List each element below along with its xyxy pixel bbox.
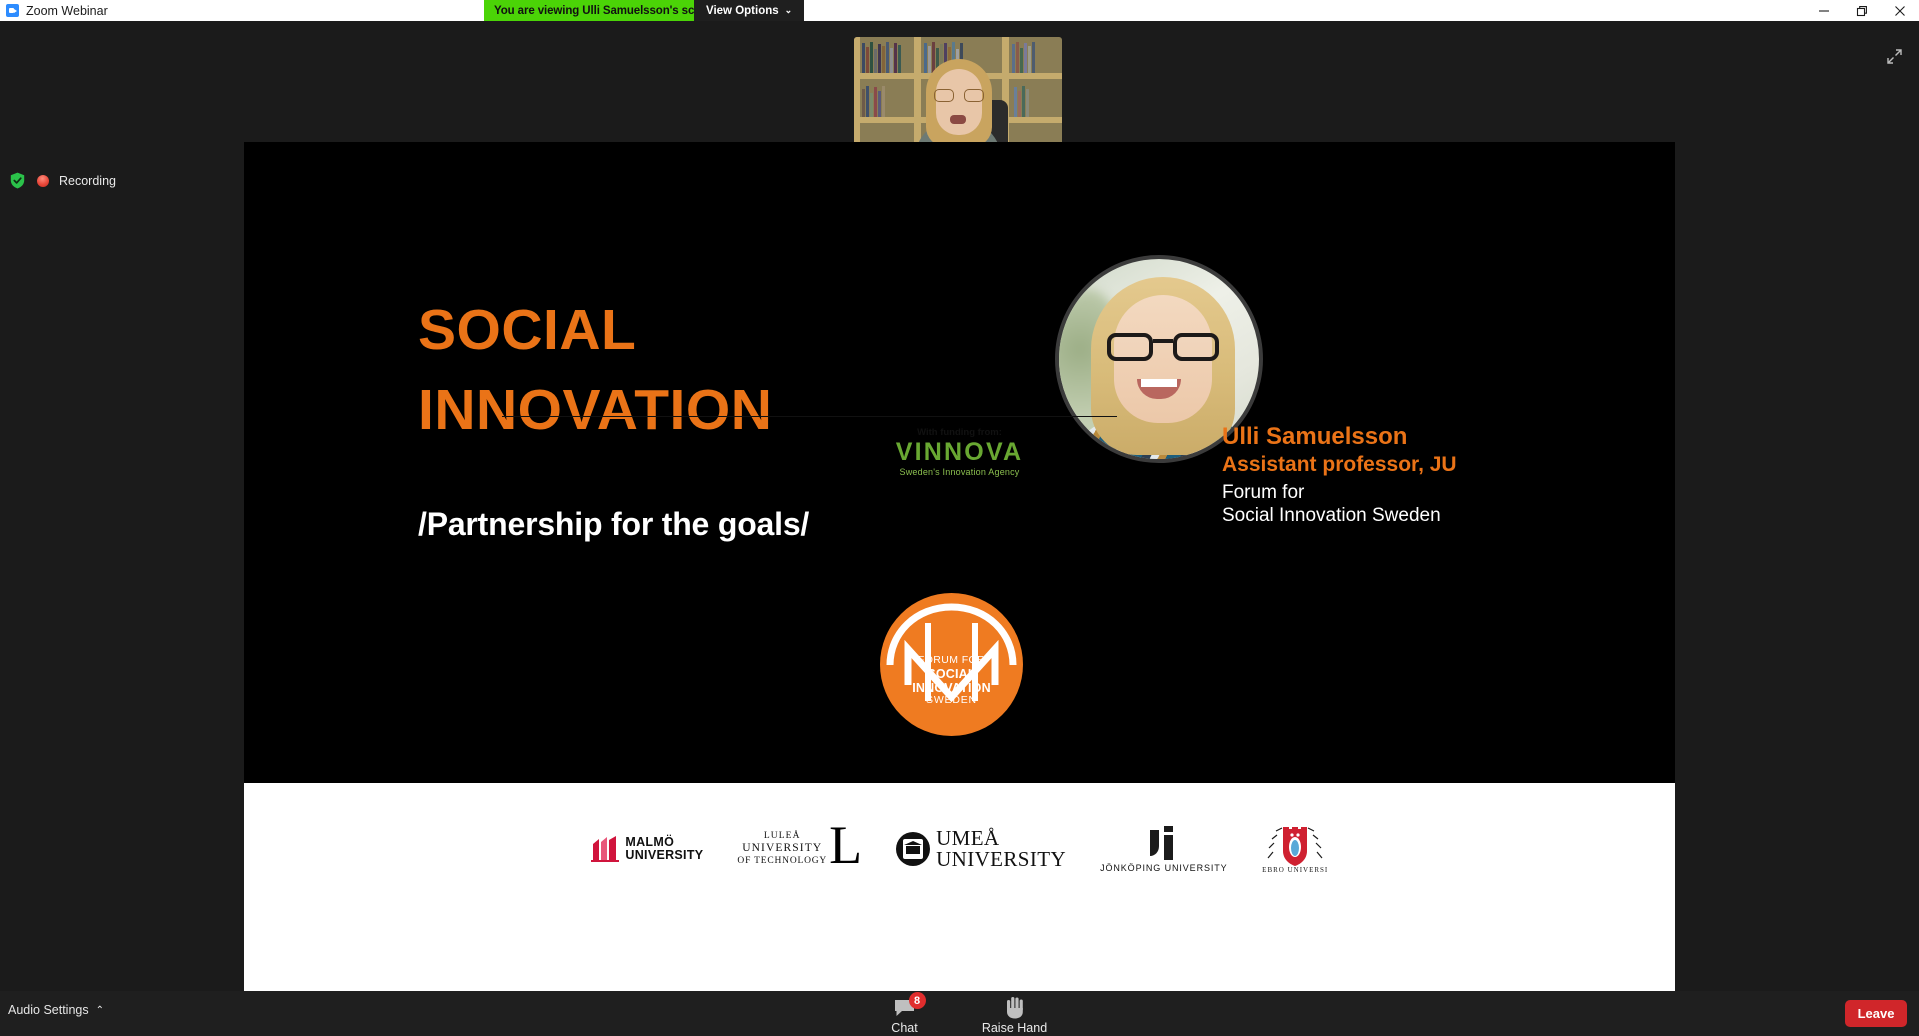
window-controls	[1805, 0, 1919, 21]
vinnova-logo-text: VINNOVA	[244, 438, 1675, 467]
jonkoping-university-icon	[1150, 826, 1178, 860]
vinnova-tagline: Sweden's Innovation Agency	[244, 467, 1675, 477]
audio-settings-label: Audio Settings	[8, 1003, 89, 1017]
funding-block: With funding from: VINNOVA Sweden's Inno…	[244, 427, 1675, 477]
footer-divider	[502, 416, 1117, 417]
shared-screen-slide[interactable]: SOCIAL INNOVATION /Partnership for the g…	[244, 142, 1675, 991]
orebro-university-icon: ÖREBRO UNIVERSITY	[1262, 823, 1328, 875]
zoom-icon	[6, 4, 19, 17]
raise-hand-button[interactable]: Raise Hand	[977, 992, 1053, 1035]
expand-icon[interactable]	[1879, 43, 1909, 69]
jonkoping-name: JÖNKÖPING UNIVERSITY	[1100, 863, 1228, 873]
malmo-name-line2: UNIVERSITY	[625, 849, 703, 862]
chevron-down-icon: ⌄	[785, 6, 793, 15]
leave-button[interactable]: Leave	[1845, 1000, 1907, 1027]
speaker-org-line1: Forum for	[1222, 482, 1304, 504]
partner-logo-jonkoping: JÖNKÖPING UNIVERSITY	[1100, 826, 1228, 873]
lulea-name-line3: OF TECHNOLOGY	[737, 856, 827, 867]
fsi-line3: INNOVATION	[880, 681, 1023, 695]
shield-check-icon[interactable]	[8, 171, 27, 190]
umea-name-line1: UMEÅ	[936, 828, 1066, 849]
umea-name-line2: UNIVERSITY	[936, 849, 1066, 870]
minimize-icon[interactable]	[1805, 0, 1843, 21]
chevron-up-icon: ⌃	[96, 1005, 104, 1016]
partner-logo-umea: UMEÅ UNIVERSITY	[896, 828, 1066, 870]
lulea-monogram-icon: L	[829, 826, 862, 865]
fsi-line4: SWEDEN	[880, 695, 1023, 707]
raise-hand-icon	[1004, 995, 1026, 1019]
slide-subtitle: /Partnership for the goals/	[418, 506, 809, 543]
chat-label: Chat	[891, 1021, 917, 1035]
close-icon[interactable]	[1881, 0, 1919, 21]
partner-logo-malmo: MALMÖ UNIVERSITY	[591, 836, 703, 862]
lulea-name-line1: LULEÅ	[737, 831, 827, 842]
malmo-university-icon	[591, 836, 619, 862]
fsi-logo-text: FORUM FOR SOCIAL INNOVATION SWEDEN	[880, 655, 1023, 707]
chat-button[interactable]: 8 Chat	[867, 992, 943, 1035]
slide-heading-line1: SOCIAL	[418, 302, 636, 359]
partner-logo-lulea: LULEÅ UNIVERSITY OF TECHNOLOGY L	[737, 831, 862, 866]
raise-hand-label: Raise Hand	[982, 1021, 1047, 1035]
record-dot-icon	[37, 175, 49, 187]
audio-settings-button[interactable]: Audio Settings ⌃	[8, 1003, 104, 1017]
toolbar-center-actions: 8 Chat Raise Hand	[867, 992, 1053, 1035]
meeting-toolbar: Audio Settings ⌃ 8 Chat	[0, 991, 1919, 1036]
window-title-bar: Zoom Webinar	[0, 0, 1919, 21]
partner-logos-row: MALMÖ UNIVERSITY LULEÅ UNIVERSITY OF TEC…	[244, 818, 1675, 880]
lulea-name-line2: UNIVERSITY	[737, 842, 827, 855]
partner-logo-orebro: ÖREBRO UNIVERSITY	[1262, 823, 1328, 875]
view-options-label: View Options	[706, 5, 779, 17]
recording-status: Recording	[8, 171, 116, 190]
slide-footer-area	[244, 783, 1675, 991]
view-options-button[interactable]: View Options ⌄	[694, 0, 804, 21]
umea-seal-icon	[896, 832, 930, 866]
chat-unread-badge: 8	[909, 992, 926, 1009]
maximize-icon[interactable]	[1843, 0, 1881, 21]
recording-label: Recording	[59, 174, 116, 188]
meeting-stage: Recording	[0, 21, 1919, 1036]
speaker-org-line2: Social Innovation Sweden	[1222, 505, 1441, 527]
fsi-line2: SOCIAL	[880, 667, 1023, 681]
funding-prefix: With funding from:	[244, 427, 1675, 438]
svg-text:ÖREBRO UNIVERSITY: ÖREBRO UNIVERSITY	[1262, 866, 1328, 874]
window-title: Zoom Webinar	[26, 4, 108, 18]
forum-social-innovation-logo: FORUM FOR SOCIAL INNOVATION SWEDEN	[880, 593, 1023, 736]
screen-share-notice: You are viewing Ulli Samuelsson's screen	[484, 0, 728, 21]
fsi-line1: FORUM FOR	[880, 655, 1023, 667]
